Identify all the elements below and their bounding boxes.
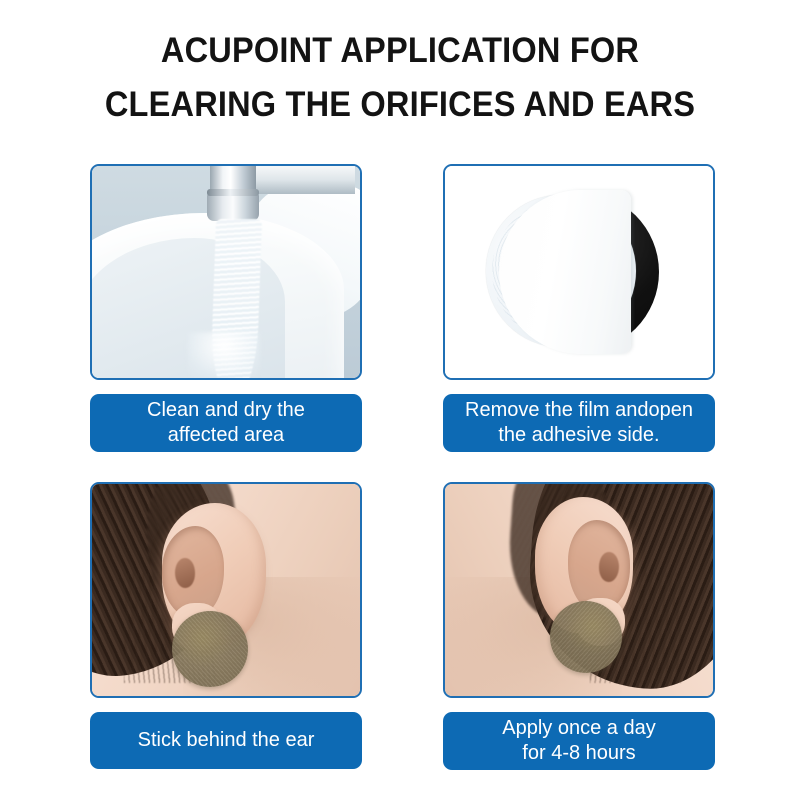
step-2-caption-line-2: the adhesive side. [465,423,693,448]
step-4-photo [443,482,715,698]
ear-scene-illustration [92,484,360,696]
step-1: Clean and dry the affected area [90,164,362,452]
step-1-photo [90,164,362,380]
step-3-caption-line-1: Stick behind the ear [138,728,315,753]
page-title: ACUPOINT APPLICATION FOR CLEARING THE OR… [0,24,800,132]
step-4-caption: Apply once a day for 4-8 hours [443,712,715,770]
step-2: Remove the film andopen the adhesive sid… [443,164,715,452]
steps-grid: Clean and dry the affected area Remove t… [90,164,720,770]
step-3: Stick behind the ear [90,482,362,770]
step-2-photo [443,164,715,380]
patch-scene-illustration [445,166,713,378]
step-3-photo [90,482,362,698]
step-4-caption-line-1: Apply once a day [502,716,655,741]
faucet-ring-shape [207,189,259,196]
ear-scene-illustration-mirrored [445,484,713,696]
sink-scene-illustration [92,166,360,378]
ear-canal-shape [175,558,195,588]
step-2-caption: Remove the film andopen the adhesive sid… [443,394,715,452]
step-1-caption-line-2: affected area [147,423,305,448]
step-4: Apply once a day for 4-8 hours [443,482,715,770]
page-title-line-2: CLEARING THE ORIFICES AND EARS [28,78,772,132]
step-1-caption-line-1: Clean and dry the [147,398,305,423]
step-4-caption-line-2: for 4-8 hours [502,741,655,766]
step-2-caption-line-1: Remove the film andopen [465,398,693,423]
water-splash-shape [188,332,260,378]
step-3-caption: Stick behind the ear [90,712,362,769]
page-title-line-1: ACUPOINT APPLICATION FOR [28,24,772,78]
applied-patch-shape [550,601,622,673]
step-1-caption: Clean and dry the affected area [90,394,362,452]
